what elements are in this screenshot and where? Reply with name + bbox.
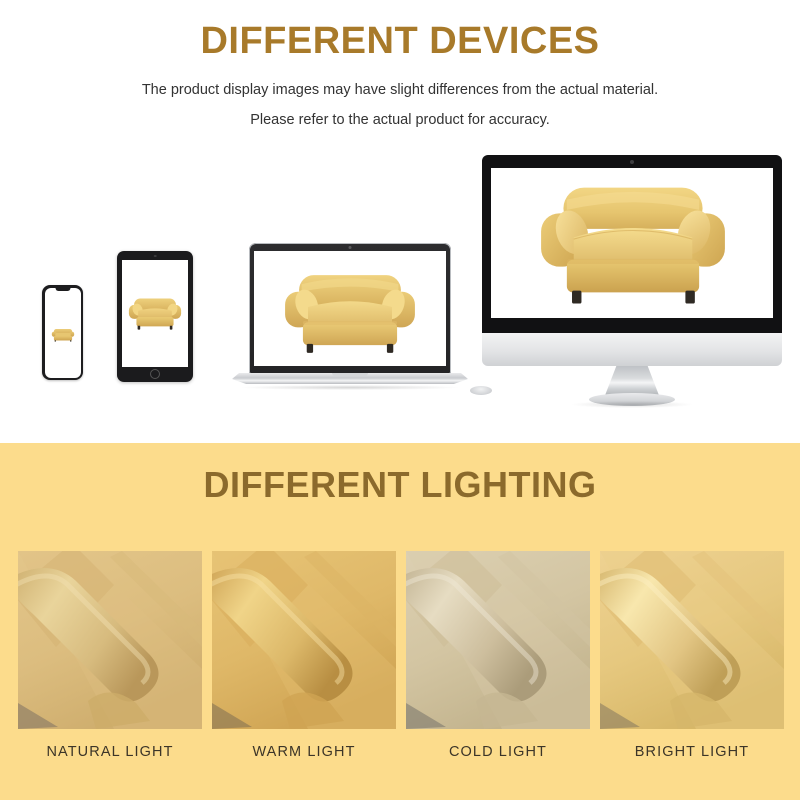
devices-subtitle-line-2: Please refer to the actual product for a… [0, 107, 800, 134]
monitor-bezel [482, 155, 782, 333]
devices-subtitle-line-1: The product display images may have slig… [0, 77, 800, 104]
swatch-image-cold [406, 551, 590, 729]
laptop-trackpad-notch-icon [332, 373, 368, 376]
swatch-label-bright: BRIGHT LIGHT [600, 744, 784, 760]
monitor-camera-icon [630, 160, 634, 164]
product-detail-page: DIFFERENT DEVICES The product display im… [0, 0, 800, 800]
lighting-swatch-cold: COLD LIGHT [406, 551, 590, 760]
laptop-shadow [242, 385, 458, 390]
tablet-screen [122, 260, 188, 367]
lighting-swatch-bright: BRIGHT LIGHT [600, 551, 784, 760]
device-laptop [232, 243, 468, 395]
swatch-label-natural: NATURAL LIGHT [18, 744, 202, 760]
sofa-image-laptop [280, 265, 420, 363]
swatch-image-bright [600, 551, 784, 729]
different-devices-section: DIFFERENT DEVICES The product display im… [0, 0, 800, 443]
lighting-swatch-warm: WARM LIGHT [212, 551, 396, 760]
sofa-image-monitor [533, 179, 733, 313]
swatch-image-warm [212, 551, 396, 729]
swatch-label-warm: WARM LIGHT [212, 744, 396, 760]
monitor-chin [482, 333, 782, 366]
laptop-camera-icon [349, 246, 352, 249]
phone-screen [45, 288, 81, 378]
swatch-label-cold: COLD LIGHT [406, 744, 590, 760]
laptop-lid [249, 243, 451, 374]
swatch-image-natural [18, 551, 202, 729]
sofa-image-tablet [126, 292, 184, 337]
device-tablet [117, 251, 193, 382]
mouse-accessory [470, 386, 492, 395]
lighting-swatch-natural: NATURAL LIGHT [18, 551, 202, 760]
tablet-home-button-icon [150, 369, 160, 379]
phone-notch-icon [55, 288, 70, 292]
device-phone [42, 285, 83, 380]
tablet-camera-icon [154, 255, 157, 258]
device-monitor [482, 155, 782, 400]
different-lighting-section: DIFFERENT LIGHTING [0, 443, 800, 800]
lighting-swatch-row: NATURAL LIGHT [18, 551, 784, 760]
laptop-screen [254, 251, 446, 366]
monitor-screen [491, 168, 773, 318]
lighting-heading: DIFFERENT LIGHTING [0, 463, 800, 507]
sofa-image-phone [50, 325, 76, 345]
devices-heading: DIFFERENT DEVICES [0, 18, 800, 64]
monitor-shadow [572, 401, 692, 408]
